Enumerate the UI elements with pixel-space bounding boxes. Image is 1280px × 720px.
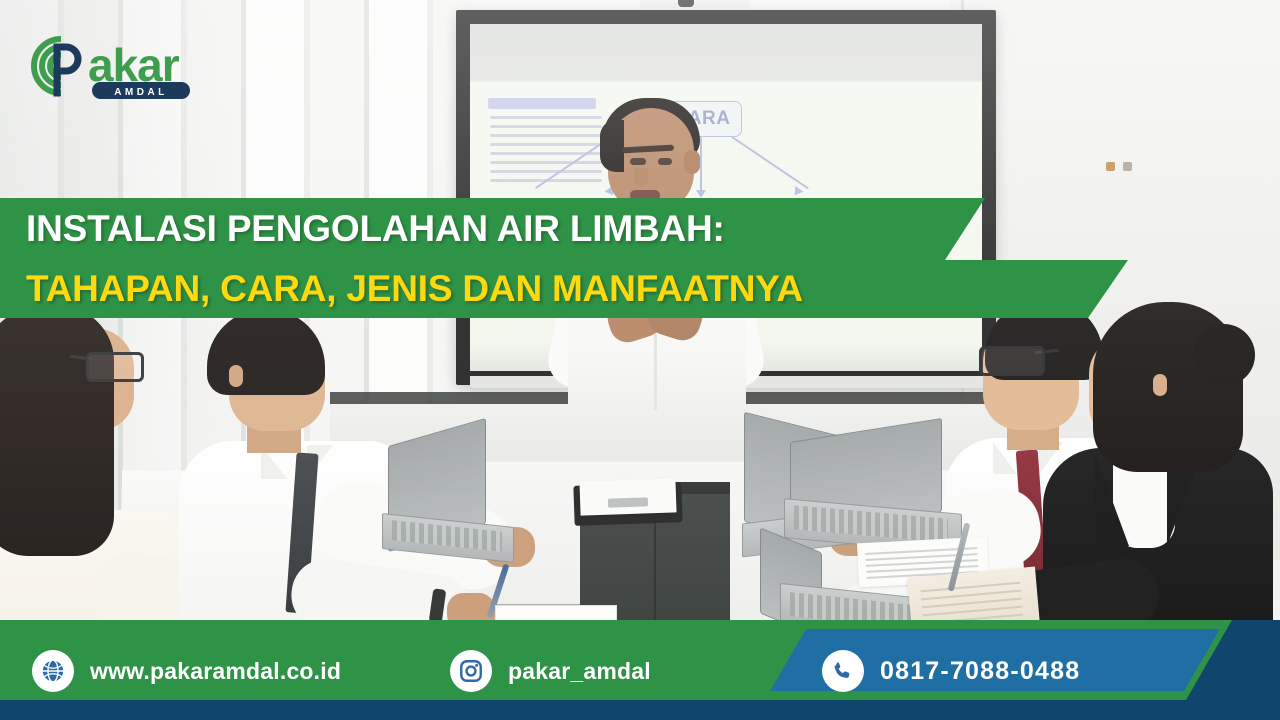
instagram-icon [450,650,492,692]
globe-icon [32,650,74,692]
title-line-1: INSTALASI PENGOLAHAN AIR LIMBAH: [0,198,985,260]
logo-mark-icon: akar AMDAL [30,33,215,103]
poster-canvas: CARA [0,0,1280,720]
title-banner: INSTALASI PENGOLAHAN AIR LIMBAH: TAHAPAN… [0,198,1160,318]
meeting-room-photo: CARA [0,0,1280,720]
projector-screen-mount [640,0,750,9]
slide-arrowhead-right [791,186,804,198]
footer-bottom-strip [0,700,1280,720]
footer-phone-label: 0817-7088-0488 [880,657,1080,686]
footer-website-label: www.pakaramdal.co.id [90,658,341,685]
title-line-2: TAHAPAN, CARA, JENIS DAN MANFAATNYA [0,260,1128,318]
footer-instagram[interactable]: pakar_amdal [450,650,651,692]
contact-footer: www.pakaramdal.co.id pakar_amdal 0817-70… [0,620,1280,720]
wall-fixtures [1106,162,1132,172]
attendee-right-man-glasses [979,346,1045,376]
attendee-left-woman [0,300,190,640]
footer-phone[interactable]: 0817-7088-0488 [822,650,1080,692]
phone-icon [822,650,864,692]
clipboard-clip [608,497,648,507]
attendee-right-woman-bun [1193,324,1255,386]
footer-website[interactable]: www.pakaramdal.co.id [32,650,341,692]
pakar-amdal-logo[interactable]: akar AMDAL [30,33,215,103]
footer-instagram-label: pakar_amdal [508,658,651,685]
svg-text:AMDAL: AMDAL [114,87,168,98]
attendee-left-woman-glasses [86,352,144,382]
attendee-right-woman [1075,300,1280,640]
ceiling-camera-icon [678,0,694,7]
